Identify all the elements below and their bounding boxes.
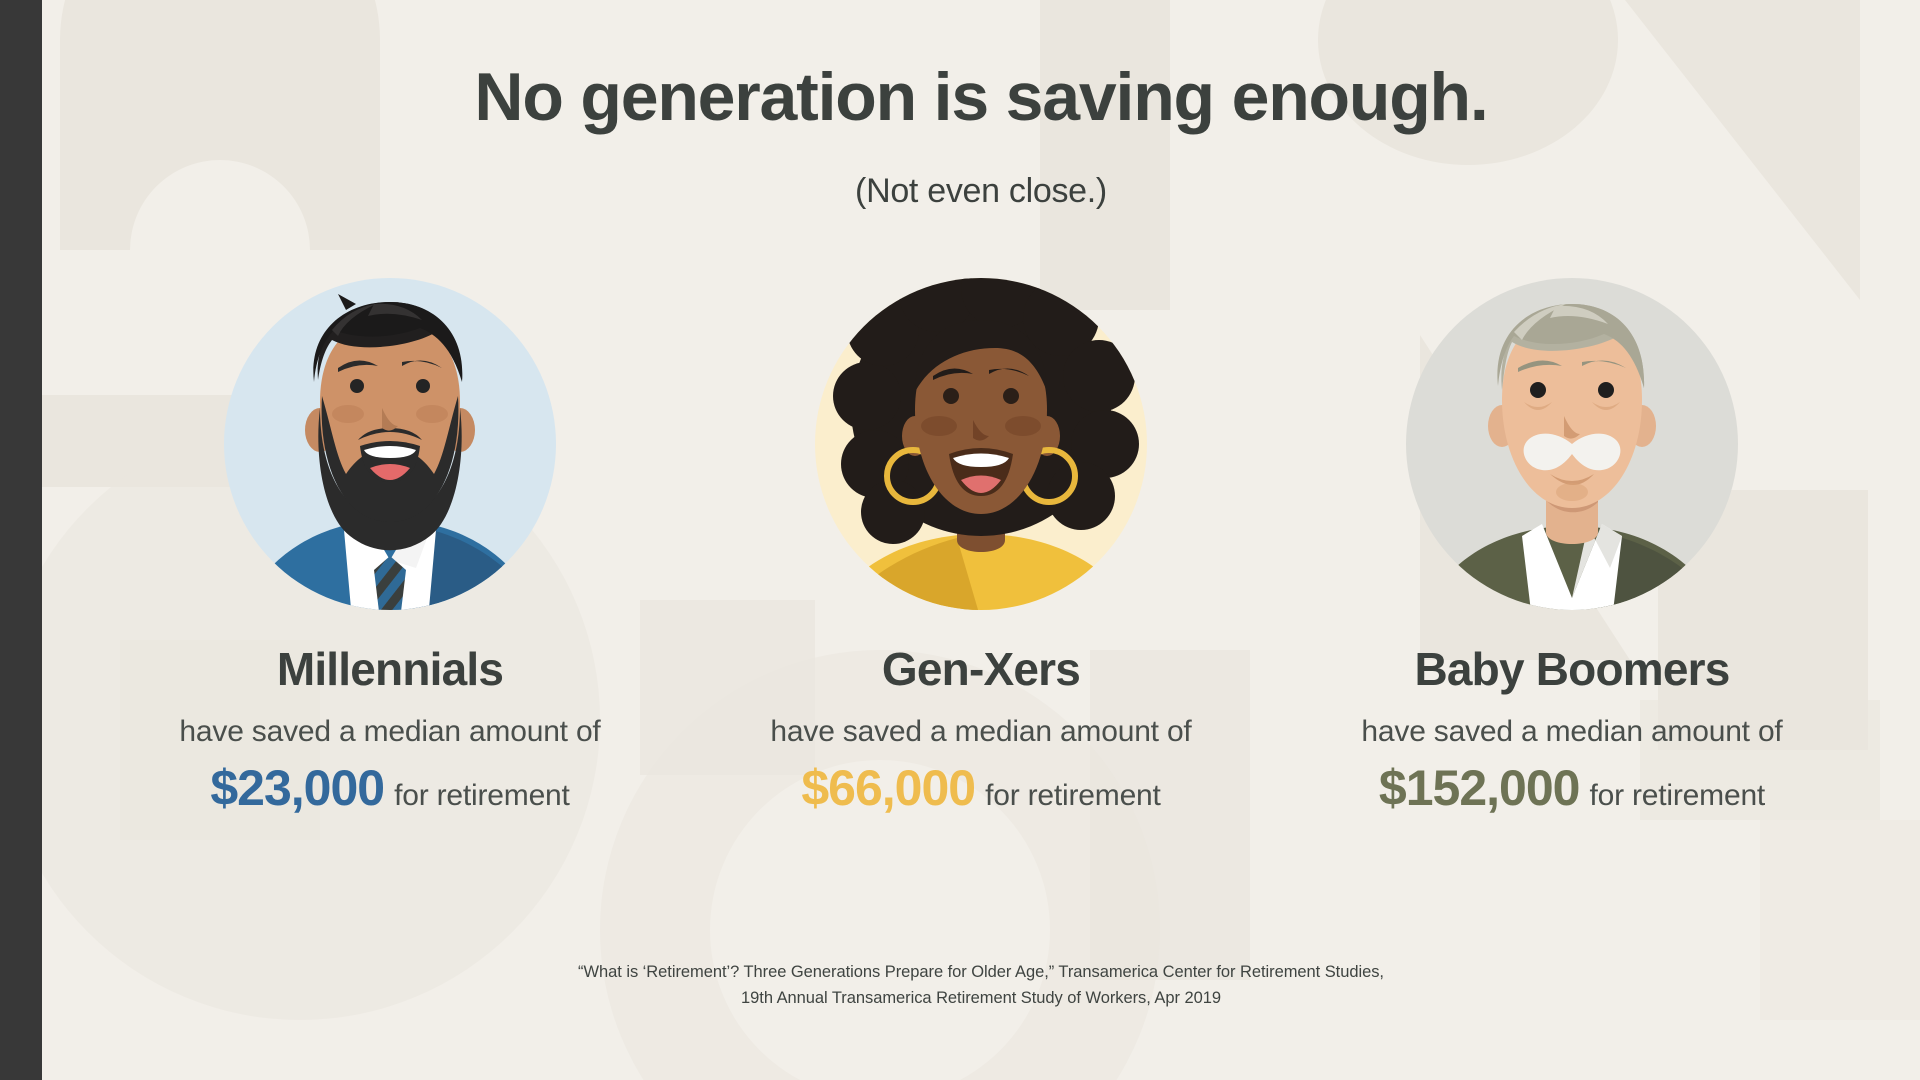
source-line-2: 19th Annual Transamerica Retirement Stud… bbox=[42, 986, 1920, 1012]
infographic-canvas: No generation is saving enough. (Not eve… bbox=[0, 0, 1920, 1080]
savings-amount-suffix: for retirement bbox=[394, 778, 570, 814]
generation-label: Millennials bbox=[277, 646, 503, 692]
savings-amount: $66,000 bbox=[801, 758, 975, 818]
generation-card-gen-xers: Gen-Xers have saved a median amount of $… bbox=[701, 268, 1261, 818]
generation-description: have saved a median amount of bbox=[1361, 714, 1782, 750]
generation-columns: Millennials have saved a median amount o… bbox=[42, 268, 1920, 818]
page-title: No generation is saving enough. bbox=[42, 62, 1920, 133]
generation-description: have saved a median amount of bbox=[770, 714, 1191, 750]
generation-amount-row: $152,000 for retirement bbox=[1379, 758, 1765, 818]
source-line-1: “What is ‘Retirement’? Three Generations… bbox=[42, 960, 1920, 986]
generation-label: Gen-Xers bbox=[882, 646, 1080, 692]
bearded-man-avatar bbox=[214, 268, 566, 620]
savings-amount-suffix: for retirement bbox=[985, 778, 1161, 814]
source-citation: “What is ‘Retirement’? Three Generations… bbox=[42, 960, 1920, 1011]
generation-label: Baby Boomers bbox=[1414, 646, 1729, 692]
savings-amount: $152,000 bbox=[1379, 758, 1580, 818]
left-accent-rail bbox=[0, 0, 42, 1080]
generation-card-millennials: Millennials have saved a median amount o… bbox=[110, 268, 670, 818]
generation-amount-row: $23,000 for retirement bbox=[210, 758, 569, 818]
generation-description: have saved a median amount of bbox=[179, 714, 600, 750]
generation-amount-row: $66,000 for retirement bbox=[801, 758, 1160, 818]
generation-card-baby-boomers: Baby Boomers have saved a median amount … bbox=[1292, 268, 1852, 818]
infographic-content: No generation is saving enough. (Not eve… bbox=[42, 0, 1920, 1080]
savings-amount: $23,000 bbox=[210, 758, 384, 818]
gray-haired-man-avatar bbox=[1396, 268, 1748, 620]
page-subtitle: (Not even close.) bbox=[42, 172, 1920, 211]
afro-woman-avatar bbox=[805, 268, 1157, 620]
savings-amount-suffix: for retirement bbox=[1589, 778, 1765, 814]
